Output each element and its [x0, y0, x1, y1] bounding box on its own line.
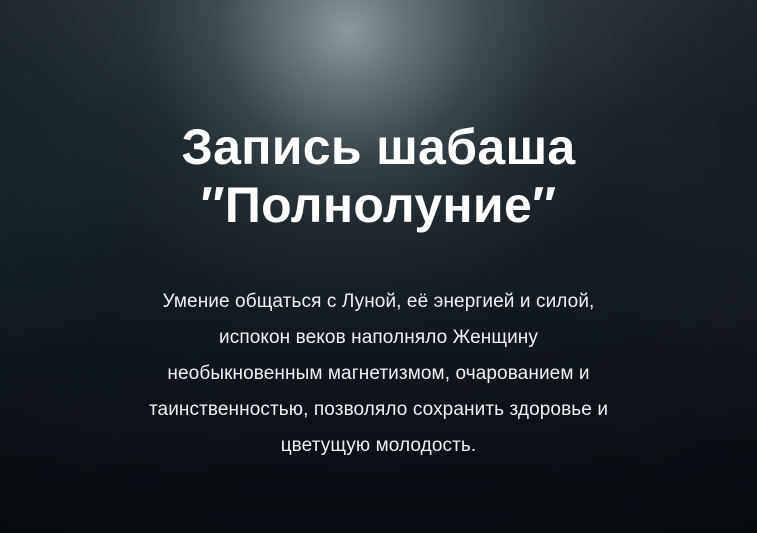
slide-content: Запись шабаша ″Полнолуние″ Умение общать… — [0, 0, 757, 533]
slide-title: Запись шабаша ″Полнолуние″ — [0, 118, 757, 234]
slide-canvas: Запись шабаша ″Полнолуние″ Умение общать… — [0, 0, 757, 533]
slide-body-text: Умение общаться с Луной, её энергией и с… — [60, 284, 697, 464]
